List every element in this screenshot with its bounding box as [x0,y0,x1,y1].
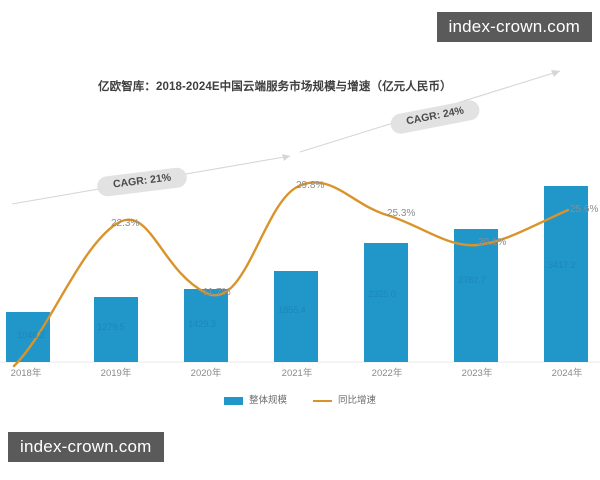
legend-line-swatch-icon [313,400,332,403]
legend-item-overall-scale[interactable]: 整体规模 [224,396,287,406]
x-axis-tick-label: 2018年 [11,369,42,379]
chart-container: index-crown.com index-crown.com 亿欧智库：201… [0,0,600,480]
bar-2022 [364,243,408,362]
bar-value-label: 2325.0 [368,290,396,299]
growth-rate-label: 29.8% [296,181,324,191]
x-axis-tick-label: 2022年 [372,369,403,379]
growth-rate-label: 22.3% [111,219,139,229]
x-axis-tick-label: 2019年 [101,369,132,379]
legend-item-growth-rate[interactable]: 同比增速 [313,396,376,406]
bar-2023 [454,229,498,362]
x-axis-tick-label: 2020年 [191,369,222,379]
bar-value-label: 2782.7 [458,276,486,285]
bar-value-label: 1046.2 [17,331,45,340]
x-axis-tick-label: 2021年 [282,369,313,379]
legend-item-label: 同比增速 [338,396,376,406]
chart-plot-area [0,0,600,480]
growth-rate-label: 25.3% [387,209,415,219]
legend-bar-swatch-icon [224,397,243,405]
bar-value-label: 1279.5 [97,323,125,332]
bar-value-label: 1855.4 [278,306,306,315]
bar-series-overall-scale [6,186,588,362]
bar-value-label: 1429.3 [188,320,216,329]
growth-rate-label: 11.7% [203,288,231,298]
bar-2021 [274,271,318,362]
x-axis-tick-label: 2023年 [462,369,493,379]
bar-value-label: 3417.2 [548,261,576,270]
legend-item-label: 整体规模 [249,396,287,406]
chart-legend: 整体规模 同比增速 [0,396,600,406]
x-axis-tick-label: 2024年 [552,369,583,379]
growth-rate-label: 20.1% [478,238,506,248]
growth-rate-label: 25.6% [570,205,598,215]
